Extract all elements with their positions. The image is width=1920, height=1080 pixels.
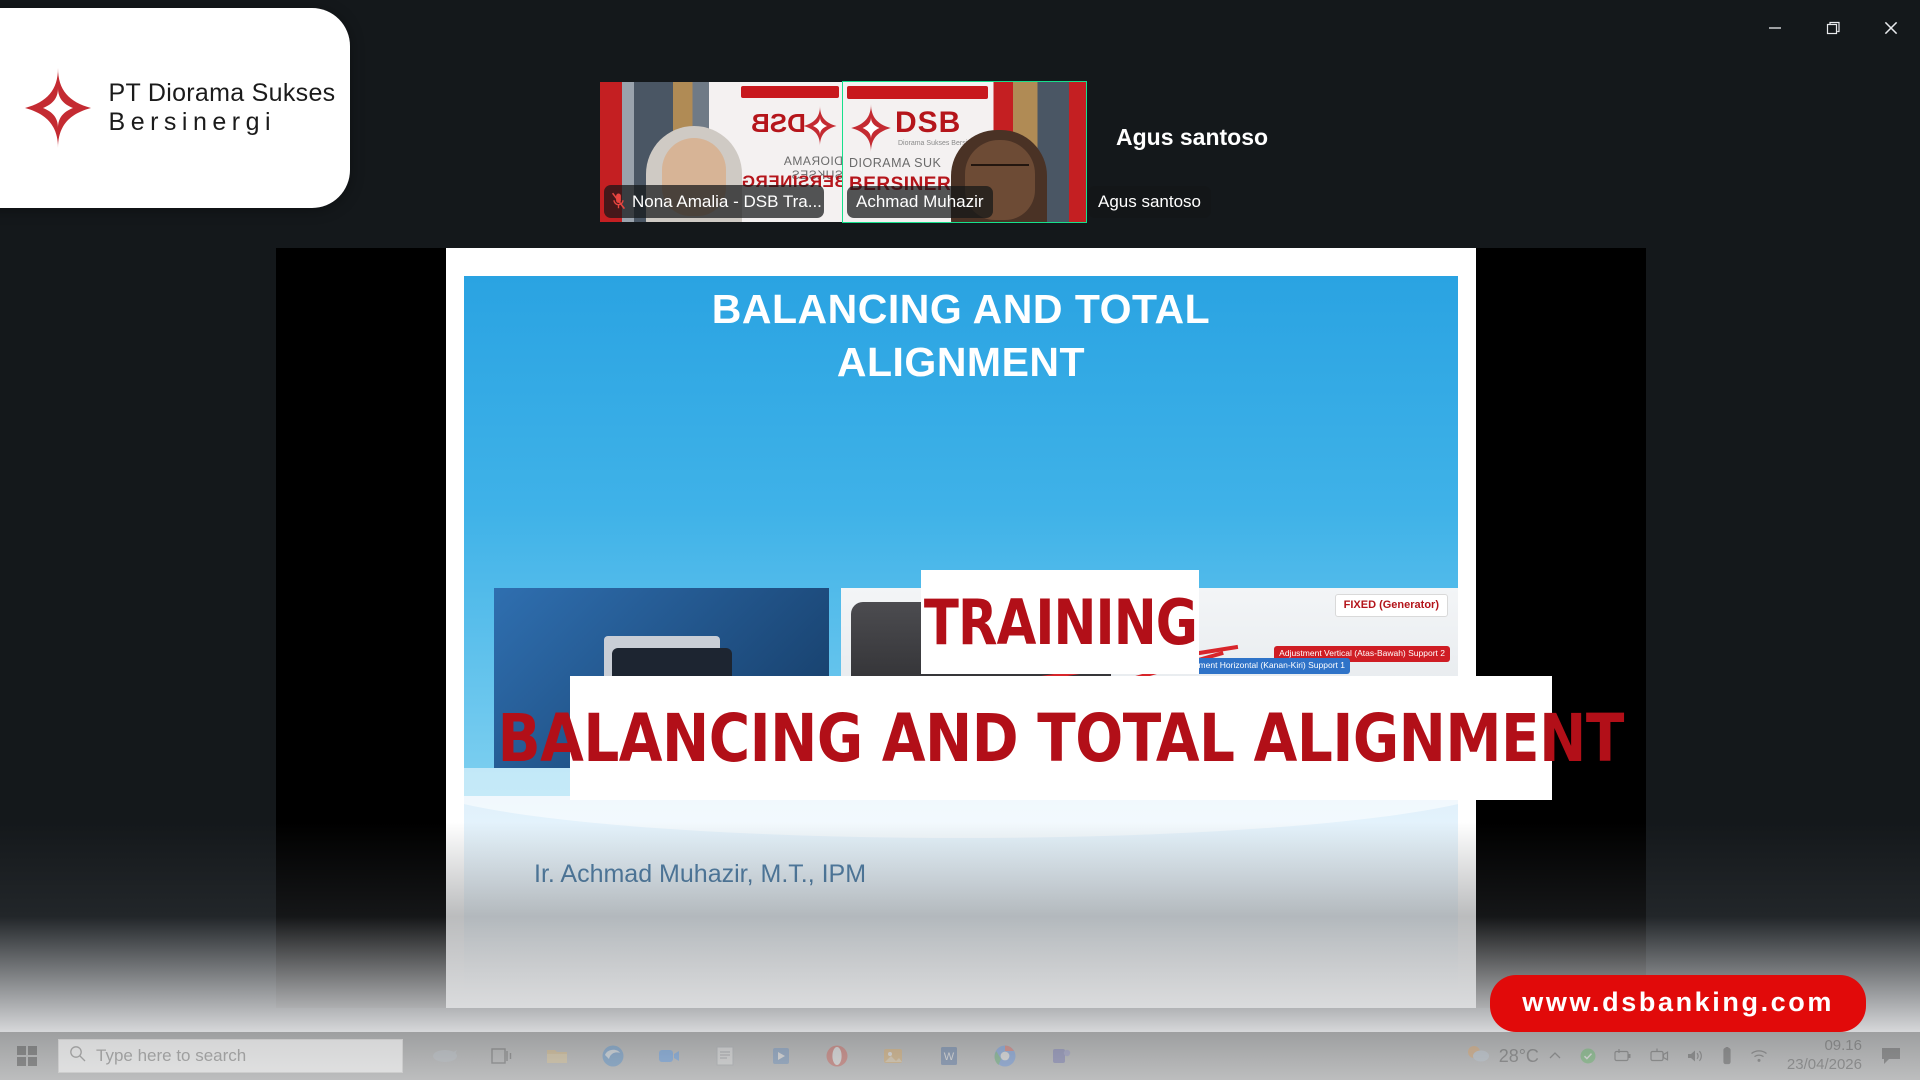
participant-tile-achmad[interactable]: DSB Diorama Sukses Bersinergi DIORAMA SU… bbox=[843, 82, 1086, 222]
diamond-logo-icon bbox=[25, 68, 91, 148]
desktop-root: PT Diorama Sukses Bersinergi DSB DIORAMA… bbox=[0, 0, 1920, 1080]
taskbar-app-list: W bbox=[417, 1032, 1089, 1080]
participant-strip: DSB DIORAMA SUKSES BERSINERGI bbox=[600, 82, 1236, 222]
search-icon bbox=[69, 1045, 86, 1067]
brand-line-2: Bersinergi bbox=[109, 108, 336, 138]
participant-name-text: Achmad Muhazir bbox=[856, 193, 984, 210]
slide-presenter-name: Ir. Achmad Muhazir, M.T., IPM bbox=[534, 860, 866, 889]
participant-name-chip: Achmad Muhazir bbox=[847, 186, 993, 218]
clock-time: 09.16 bbox=[1787, 1037, 1862, 1056]
search-placeholder: Type here to search bbox=[96, 1046, 246, 1066]
taskbar-clock[interactable]: 09.16 23/04/2026 bbox=[1777, 1037, 1872, 1075]
notification-icon[interactable] bbox=[1872, 1032, 1910, 1080]
shared-screen[interactable]: BALANCING AND TOTAL ALIGNMENT FIXED (Gen… bbox=[276, 248, 1646, 1008]
teams-icon[interactable] bbox=[1033, 1032, 1089, 1080]
active-speaker-name: Agus santoso bbox=[1116, 124, 1268, 151]
weather-cloud-icon bbox=[1465, 1043, 1491, 1070]
weather-temperature: 28°C bbox=[1499, 1046, 1539, 1067]
store-icon[interactable] bbox=[753, 1032, 809, 1080]
participant-name-text: Agus santoso bbox=[1098, 192, 1201, 211]
callout-text: FIXED (Generator) bbox=[1344, 599, 1439, 611]
participant-name-chip: Nona Amalia - DSB Tra... bbox=[604, 185, 824, 218]
screen-capture-icon[interactable] bbox=[1641, 1032, 1677, 1080]
word-icon[interactable]: W bbox=[921, 1032, 977, 1080]
battery-icon[interactable] bbox=[1713, 1032, 1741, 1080]
weather-widget[interactable]: 28°C bbox=[1451, 1043, 1539, 1070]
chrome-icon[interactable] bbox=[977, 1032, 1033, 1080]
callout-text: Adjustment Vertical (Atas-Bawah) Support… bbox=[1279, 648, 1445, 658]
participant-name-text: Nona Amalia - DSB Tra... bbox=[632, 193, 822, 210]
zoom-icon[interactable] bbox=[641, 1032, 697, 1080]
overlay-training-text: TRAINING bbox=[923, 586, 1196, 659]
close-button[interactable] bbox=[1862, 0, 1920, 56]
slide-heading: BALANCING AND TOTAL ALIGNMENT bbox=[446, 286, 1476, 386]
edge-icon[interactable] bbox=[585, 1032, 641, 1080]
clock-date: 23/04/2026 bbox=[1787, 1056, 1862, 1075]
search-input[interactable]: Type here to search bbox=[58, 1039, 403, 1073]
brand-badge: PT Diorama Sukses Bersinergi bbox=[0, 8, 350, 208]
volume-icon[interactable] bbox=[1677, 1032, 1713, 1080]
participant-name-chip: Agus santoso bbox=[1088, 186, 1211, 218]
overlay-training-box: TRAINING bbox=[921, 570, 1199, 674]
callout-fixed-generator: FIXED (Generator) bbox=[1335, 594, 1448, 617]
system-tray: 28°C 09.16 bbox=[1451, 1032, 1920, 1080]
maximize-button[interactable] bbox=[1804, 0, 1862, 56]
windows-taskbar: Type here to search bbox=[0, 1032, 1920, 1080]
overlay-title-text: BALANCING AND TOTAL ALIGNMENT bbox=[498, 700, 1624, 777]
mic-muted-icon bbox=[611, 192, 626, 210]
brand-line-1: PT Diorama Sukses bbox=[109, 79, 336, 109]
minimize-button[interactable] bbox=[1746, 0, 1804, 56]
participant-tile-agus[interactable]: Agus santoso Agus santoso bbox=[1086, 82, 1236, 222]
windows-start-icon[interactable] bbox=[0, 1032, 54, 1080]
photos-icon[interactable] bbox=[865, 1032, 921, 1080]
overlay-title-box: BALANCING AND TOTAL ALIGNMENT bbox=[570, 676, 1552, 800]
battery-plug-icon[interactable] bbox=[1605, 1032, 1641, 1080]
window-controls bbox=[1746, 0, 1920, 56]
notepad-icon[interactable] bbox=[697, 1032, 753, 1080]
slide-heading-line2: ALIGNMENT bbox=[446, 339, 1476, 386]
slide-heading-line1: BALANCING AND TOTAL bbox=[712, 286, 1210, 332]
slide-wave-footer bbox=[464, 796, 1458, 996]
task-view-icon[interactable] bbox=[473, 1032, 529, 1080]
svg-text:W: W bbox=[944, 1051, 955, 1063]
opera-icon[interactable] bbox=[809, 1032, 865, 1080]
website-banner: www.dsbanking.com bbox=[1490, 975, 1866, 1032]
file-explorer-icon[interactable] bbox=[529, 1032, 585, 1080]
website-banner-text: www.dsbanking.com bbox=[1522, 987, 1834, 1017]
participant-tile-nona[interactable]: DSB DIORAMA SUKSES BERSINERGI bbox=[600, 82, 843, 222]
cortana-icon[interactable] bbox=[417, 1032, 473, 1080]
security-icon[interactable] bbox=[1571, 1032, 1605, 1080]
chevron-up-icon[interactable] bbox=[1539, 1032, 1571, 1080]
callout-text: Adjustment Horizontal (Kanan-Kiri) Suppo… bbox=[1175, 660, 1345, 670]
wifi-icon[interactable] bbox=[1741, 1032, 1777, 1080]
